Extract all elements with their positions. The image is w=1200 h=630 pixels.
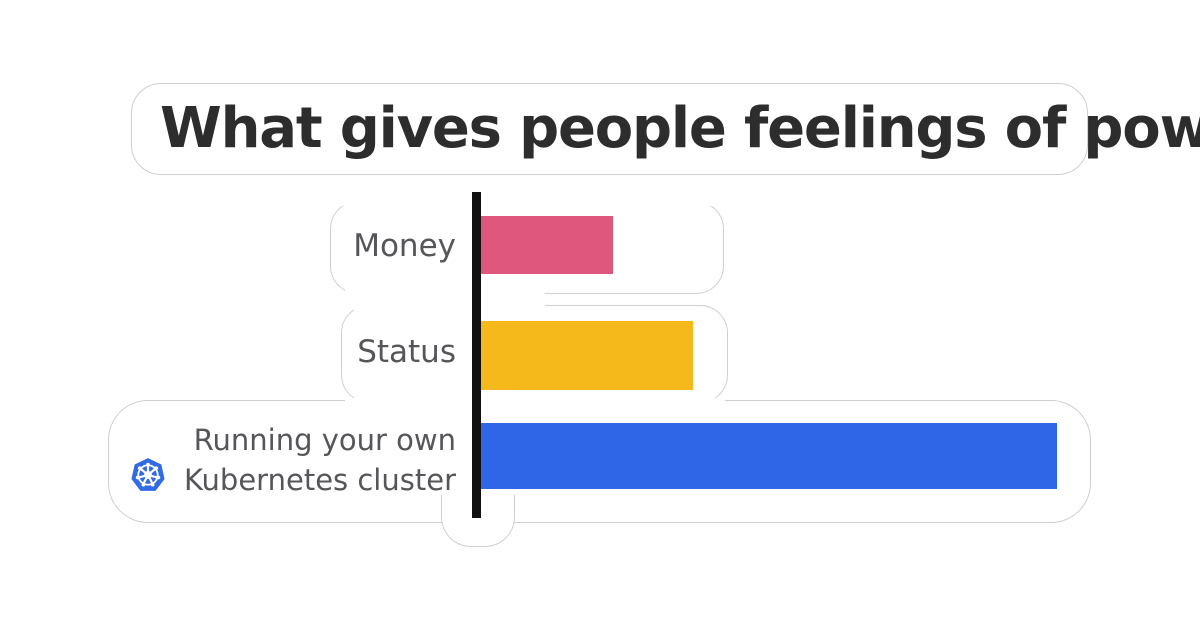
- category-label-kubernetes-line2: Kubernetes cluster: [184, 460, 456, 500]
- sticker-canvas: What gives people feelings of power Mone…: [0, 0, 1200, 630]
- category-label-kubernetes: Running your own Kubernetes cluster: [184, 420, 456, 500]
- kubernetes-logo-icon: [130, 457, 166, 493]
- category-label-kubernetes-line1: Running your own: [184, 420, 456, 460]
- chart-title: What gives people feelings of power: [160, 94, 1060, 164]
- category-label-status: Status: [357, 334, 456, 370]
- bar-money: [481, 216, 613, 274]
- chart-axis-line: [472, 192, 481, 518]
- category-label-money: Money: [353, 228, 456, 264]
- bar-kubernetes: [481, 423, 1057, 489]
- bar-status: [481, 321, 693, 390]
